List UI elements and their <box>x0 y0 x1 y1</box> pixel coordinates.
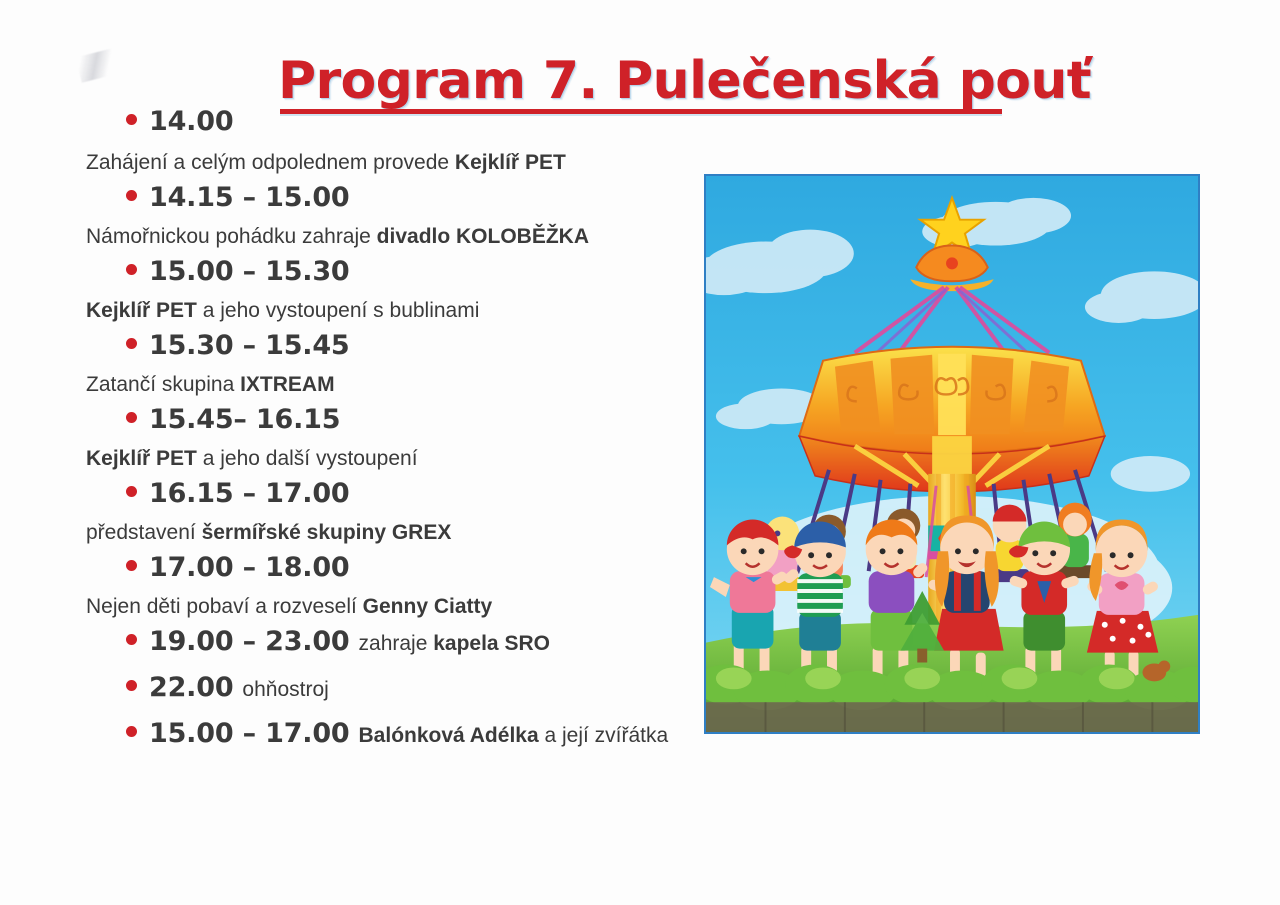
program-entry-inline-description: Balónková Adélka a její zvířátka <box>359 724 669 748</box>
program-entry: 15.30 – 15.45 Zatančí skupina IXTREAM <box>86 330 706 400</box>
bullet-icon <box>126 726 137 737</box>
poster-page: Program 7. Pulečenská pouť 14.00 Zahájen… <box>0 0 1280 905</box>
tail-highlight: kapela SRO <box>433 632 550 655</box>
program-entry: 15.00 – 15.30 Kejklíř PET a jeho vystoup… <box>86 256 706 326</box>
program-entry: 14.15 – 15.00 Námořnickou pohádku zahraj… <box>86 182 706 252</box>
program-entry-time-line: 14.00 <box>126 106 706 148</box>
program-entry-time: 19.00 – 23.00 <box>149 626 350 657</box>
carousel-canopy <box>799 347 1105 492</box>
program-entry-time: 15.00 – 15.30 <box>149 256 350 287</box>
desc-post: a jeho vystoupení s bublinami <box>197 299 480 322</box>
desc-post: a jeho další vystoupení <box>197 447 418 470</box>
tail-highlight: Balónková Adélka <box>359 724 539 747</box>
bullet-icon <box>126 190 137 201</box>
bullet-icon <box>126 114 137 125</box>
program-entry: 16.15 – 17.00 představení šermířské skup… <box>86 478 706 548</box>
bullet-icon <box>126 338 137 349</box>
program-list: 14.00 Zahájení a celým odpolednem proved… <box>86 106 706 764</box>
program-entry-time-line: 19.00 – 23.00 zahraje kapela SRO <box>126 626 706 672</box>
bullet-icon <box>126 264 137 275</box>
program-entry-description: Kejklíř PET a jeho další vystoupení <box>86 444 706 474</box>
tail-pre: ohňostroj <box>242 678 328 701</box>
program-entry-time-line: 15.45– 16.15 <box>126 404 706 444</box>
program-entry-description: Kejklíř PET a jeho vystoupení s bublinam… <box>86 296 706 326</box>
desc-highlight: Genny Ciatty <box>363 595 493 618</box>
program-entry: 19.00 – 23.00 zahraje kapela SRO <box>86 626 706 672</box>
desc-pre: Námořnickou pohádku zahraje <box>86 225 377 248</box>
tail-pre: zahraje <box>359 632 434 655</box>
program-entry: 15.45– 16.15 Kejklíř PET a jeho další vy… <box>86 404 706 474</box>
desc-highlight: IXTREAM <box>240 373 335 396</box>
program-entry-time-line: 17.00 – 18.00 <box>126 552 706 592</box>
program-entry-time-line: 14.15 – 15.00 <box>126 182 706 222</box>
bullet-icon <box>126 634 137 645</box>
desc-pre: představení <box>86 521 202 544</box>
program-entry: 22.00 ohňostroj <box>86 672 706 718</box>
program-entry-time: 14.15 – 15.00 <box>149 182 350 213</box>
program-entry-time-line: 15.00 – 15.30 <box>126 256 706 296</box>
program-entry-time-line: 15.30 – 15.45 <box>126 330 706 370</box>
program-entry-time-line: 16.15 – 17.00 <box>126 478 706 518</box>
carousel-illustration-svg <box>706 176 1198 732</box>
program-entry-time: 15.00 – 17.00 <box>149 718 350 749</box>
program-entry-time: 17.00 – 18.00 <box>149 552 350 583</box>
desc-highlight: divadlo KOLOBĚŽKA <box>377 225 589 248</box>
program-entry-description: Zatančí skupina IXTREAM <box>86 370 706 400</box>
program-entry-time-line: 22.00 ohňostroj <box>126 672 706 718</box>
desc-pre: Zatančí skupina <box>86 373 240 396</box>
carousel-illustration <box>704 174 1200 734</box>
desc-highlight: Kejklíř PET <box>86 447 197 470</box>
bullet-icon <box>126 412 137 423</box>
program-entry-description: Nejen děti pobaví a rozveselí Genny Ciat… <box>86 592 706 622</box>
tail-post: a její zvířátka <box>539 724 669 747</box>
program-entry-time: 15.45– 16.15 <box>149 404 340 435</box>
desc-highlight: šermířské skupiny GREX <box>202 521 452 544</box>
scan-artifact <box>75 47 122 82</box>
program-entry-time: 16.15 – 17.00 <box>149 478 350 509</box>
program-entry-description: Námořnickou pohádku zahraje divadlo KOLO… <box>86 222 706 252</box>
bullet-icon <box>126 486 137 497</box>
desc-pre: Zahájení a celým odpolednem provede <box>86 151 455 174</box>
program-entry-inline-description: zahraje kapela SRO <box>359 632 550 656</box>
program-entry-time-line: 15.00 – 17.00 Balónková Adélka a její zv… <box>126 718 706 764</box>
program-entry-description: představení šermířské skupiny GREX <box>86 518 706 548</box>
desc-highlight: Kejklíř PET <box>86 299 197 322</box>
desc-pre: Nejen děti pobaví a rozveselí <box>86 595 363 618</box>
program-entry: 15.00 – 17.00 Balónková Adélka a její zv… <box>86 718 706 764</box>
program-entry-time: 22.00 <box>149 672 233 703</box>
program-entry: 17.00 – 18.00 Nejen děti pobaví a rozves… <box>86 552 706 622</box>
path-strip <box>706 702 1198 732</box>
program-entry-time: 15.30 – 15.45 <box>149 330 350 361</box>
program-entry-description: Zahájení a celým odpolednem provede Kejk… <box>86 148 706 178</box>
program-entry: 14.00 Zahájení a celým odpolednem proved… <box>86 106 706 178</box>
page-title: Program 7. Pulečenská pouť <box>278 52 1018 110</box>
desc-highlight: Kejklíř PET <box>455 151 566 174</box>
program-entry-inline-description: ohňostroj <box>242 678 328 702</box>
program-entry-time: 14.00 <box>149 106 233 137</box>
bullet-icon <box>126 560 137 571</box>
bullet-icon <box>126 680 137 691</box>
